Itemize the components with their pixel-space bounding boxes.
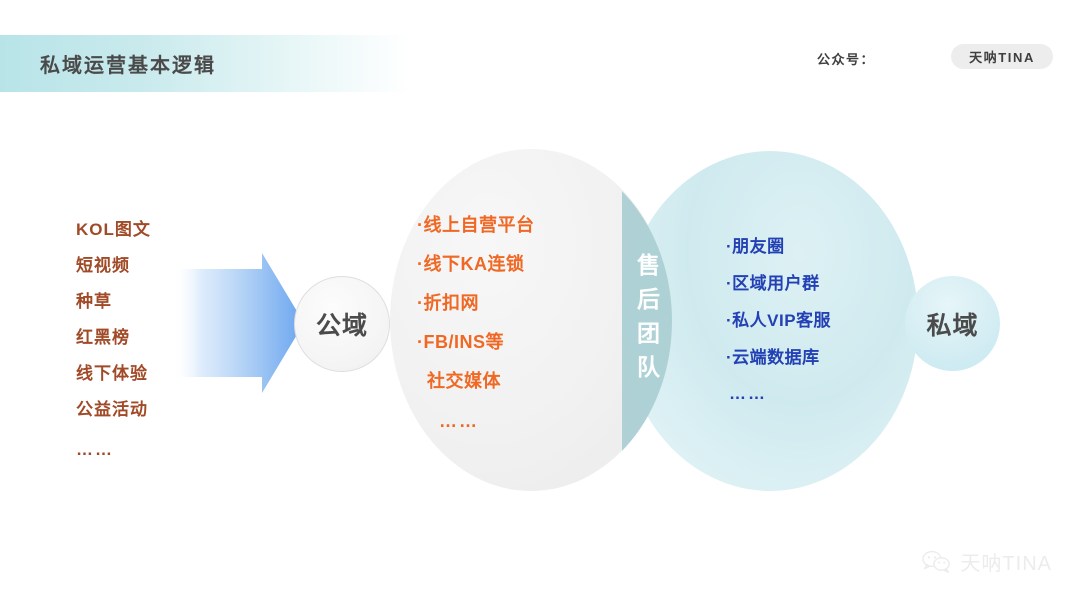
private-domain-label: 私域 — [926, 306, 978, 342]
list-item: 社交媒体 — [417, 362, 627, 401]
account-name: 天呐TINA — [969, 47, 1035, 66]
account-badge: 天呐TINA — [951, 44, 1053, 69]
watermark-text: 天呐TINA — [960, 547, 1052, 576]
public-domain-node: 公域 — [294, 276, 390, 372]
private-domain-node: 私域 — [905, 276, 1000, 371]
public-domain-label: 公域 — [316, 306, 368, 342]
list-item: ·朋友圈 — [726, 228, 926, 265]
page-title: 私域运营基本逻辑 — [40, 49, 216, 78]
list-item: ·FB/INS等 — [417, 323, 627, 362]
overlap-char: 队 — [634, 350, 664, 384]
list-item: 公益活动 — [76, 392, 246, 428]
overlap-char: 后 — [634, 282, 664, 316]
watermark: 天呐TINA — [922, 547, 1052, 576]
list-item: ·线上自营平台 — [417, 206, 627, 245]
public-channel-list: ·线上自营平台 ·线下KA连锁 ·折扣网 ·FB/INS等 社交媒体 …… — [417, 206, 627, 441]
list-item: ·云端数据库 — [726, 339, 926, 376]
list-ellipsis: …… — [76, 432, 246, 468]
private-channel-list: ·朋友圈 ·区域用户群 ·私人VIP客服 ·云端数据库 …… — [726, 228, 926, 412]
wechat-icon — [922, 550, 952, 574]
overlap-char: 团 — [634, 316, 664, 350]
right-arrow-icon — [172, 253, 304, 393]
list-item: ·折扣网 — [417, 284, 627, 323]
list-item: KOL图文 — [76, 212, 246, 248]
list-ellipsis: …… — [726, 376, 926, 412]
list-item: ·区域用户群 — [726, 265, 926, 302]
list-item: ·线下KA连锁 — [417, 245, 627, 284]
slide-canvas: 私域运营基本逻辑 公众号： 天呐TINA KOL图文 短视频 种草 红黑榜 线下… — [0, 0, 1080, 608]
account-label: 公众号： — [817, 49, 875, 68]
list-ellipsis: …… — [417, 401, 627, 441]
overlap-char: 售 — [634, 248, 664, 282]
list-item: ·私人VIP客服 — [726, 302, 926, 339]
overlap-label: 售 后 团 队 — [634, 248, 664, 384]
